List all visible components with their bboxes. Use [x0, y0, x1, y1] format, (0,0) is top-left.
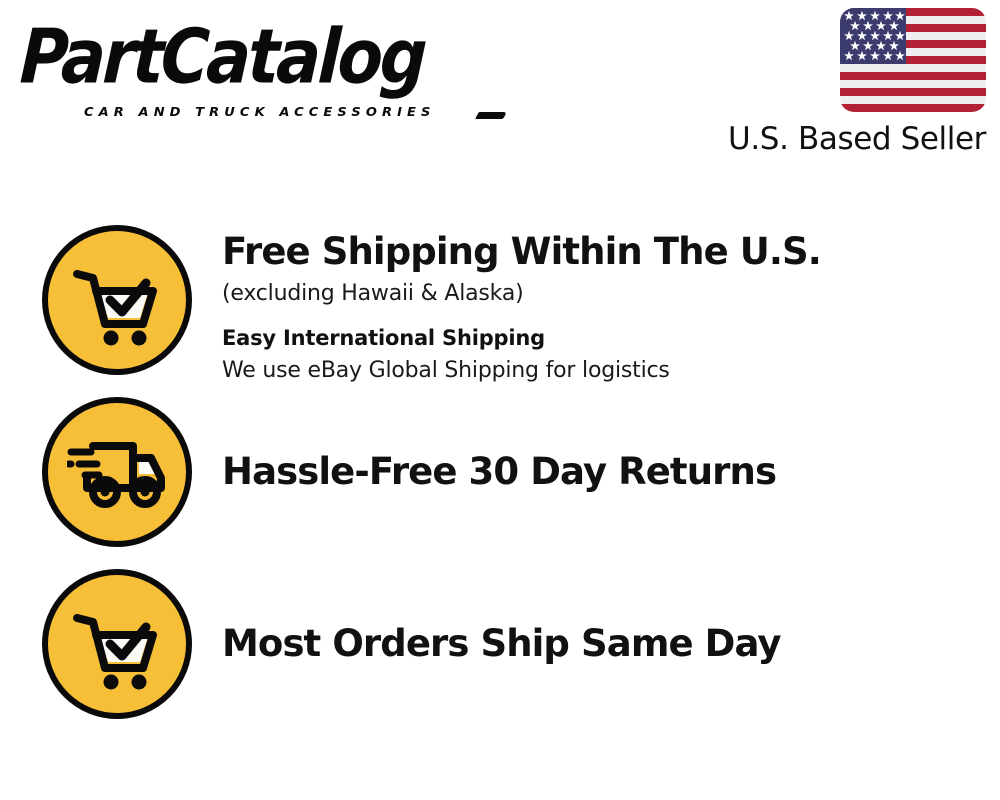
page-header: PartCatalog CAR AND TRUCK ACCESSORIES — [0, 0, 1000, 165]
shopping-cart-check-icon — [42, 225, 192, 375]
feature-text-block: Most Orders Ship Same Day — [192, 621, 982, 667]
brand-wordmark: PartCatalog — [19, 20, 502, 95]
us-flag-icon — [840, 8, 986, 112]
feature-text-block: Free Shipping Within The U.S. (excluding… — [192, 225, 982, 387]
feature-subtitle: (excluding Hawaii & Alaska) — [222, 278, 982, 310]
feature-row: Hassle-Free 30 Day Returns — [42, 397, 982, 547]
brand-tagline: CAR AND TRUCK ACCESSORIES — [84, 106, 436, 120]
feature-row: Most Orders Ship Same Day — [42, 569, 982, 719]
feature-text-block: Hassle-Free 30 Day Returns — [192, 449, 982, 495]
feature-title: Hassle-Free 30 Day Returns — [222, 449, 982, 495]
brand-swoosh-icon — [475, 112, 507, 119]
feature-secondary-title: Easy International Shipping — [222, 323, 982, 354]
us-based-seller-label: U.S. Based Seller — [714, 121, 986, 157]
brand-logo[interactable]: PartCatalog CAR AND TRUCK ACCESSORIES — [22, 20, 502, 115]
feature-title: Free Shipping Within The U.S. — [222, 229, 982, 275]
feature-title: Most Orders Ship Same Day — [222, 621, 982, 667]
delivery-truck-icon — [42, 397, 192, 547]
us-based-seller-badge: U.S. Based Seller — [714, 8, 986, 157]
feature-secondary-subtitle: We use eBay Global Shipping for logistic… — [222, 355, 982, 387]
feature-row: Free Shipping Within The U.S. (excluding… — [42, 225, 982, 387]
shopping-cart-check-icon — [42, 569, 192, 719]
